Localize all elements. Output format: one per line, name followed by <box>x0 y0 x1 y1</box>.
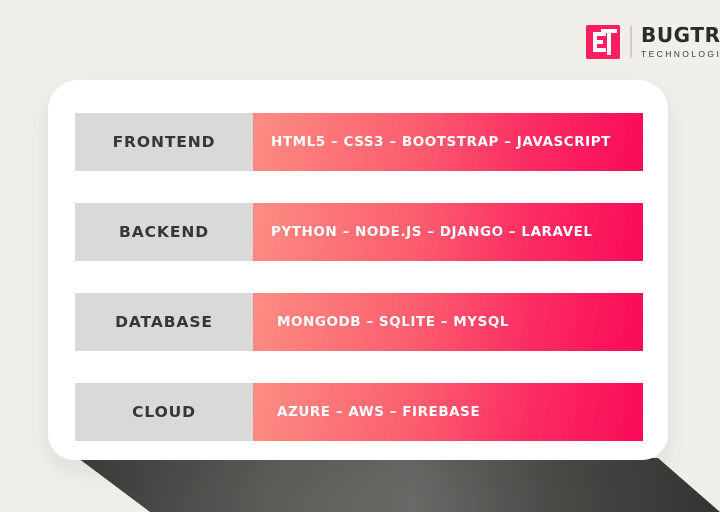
row-category-frontend: FRONTEND <box>75 113 253 171</box>
logo-divider <box>630 26 632 58</box>
et-monogram-icon <box>586 25 620 59</box>
stack-row-list: FRONTEND HTML5 – CSS3 – BOOTSTRAP – JAVA… <box>75 113 643 441</box>
row-category-database: DATABASE <box>75 293 253 351</box>
row-items-cloud: AZURE – AWS – FIREBASE <box>253 383 643 441</box>
table-row: DATABASE MONGODB – SQLITE – MYSQL <box>75 293 643 351</box>
table-row: FRONTEND HTML5 – CSS3 – BOOTSTRAP – JAVA… <box>75 113 643 171</box>
row-label-text: CLOUD <box>132 403 196 421</box>
slide-canvas: BUGTREAT TECHNOLOGIES FRONTEND HTML <box>0 0 720 512</box>
brand-name: BUGTREAT <box>641 25 720 45</box>
row-items-text: AZURE – AWS – FIREBASE <box>253 404 480 420</box>
logo-wordmark: BUGTREAT TECHNOLOGIES <box>641 25 720 59</box>
row-label-text: FRONTEND <box>113 133 216 151</box>
row-category-cloud: CLOUD <box>75 383 253 441</box>
row-items-text: MONGODB – SQLITE – MYSQL <box>253 314 509 330</box>
row-items-database: MONGODB – SQLITE – MYSQL <box>253 293 643 351</box>
brand-tagline: TECHNOLOGIES <box>641 50 720 59</box>
row-items-text: PYTHON – NODE.JS – DJANGO – LARAVEL <box>253 224 593 240</box>
stack-card: FRONTEND HTML5 – CSS3 – BOOTSTRAP – JAVA… <box>48 80 668 460</box>
row-category-backend: BACKEND <box>75 203 253 261</box>
table-row: BACKEND PYTHON – NODE.JS – DJANGO – LARA… <box>75 203 643 261</box>
brand-logo: BUGTREAT TECHNOLOGIES <box>586 22 720 62</box>
row-label-text: BACKEND <box>119 223 209 241</box>
row-label-text: DATABASE <box>115 313 213 331</box>
row-items-backend: PYTHON – NODE.JS – DJANGO – LARAVEL <box>253 203 643 261</box>
table-row: CLOUD AZURE – AWS – FIREBASE <box>75 383 643 441</box>
row-items-frontend: HTML5 – CSS3 – BOOTSTRAP – JAVASCRIPT <box>253 113 643 171</box>
row-items-text: HTML5 – CSS3 – BOOTSTRAP – JAVASCRIPT <box>253 134 611 150</box>
